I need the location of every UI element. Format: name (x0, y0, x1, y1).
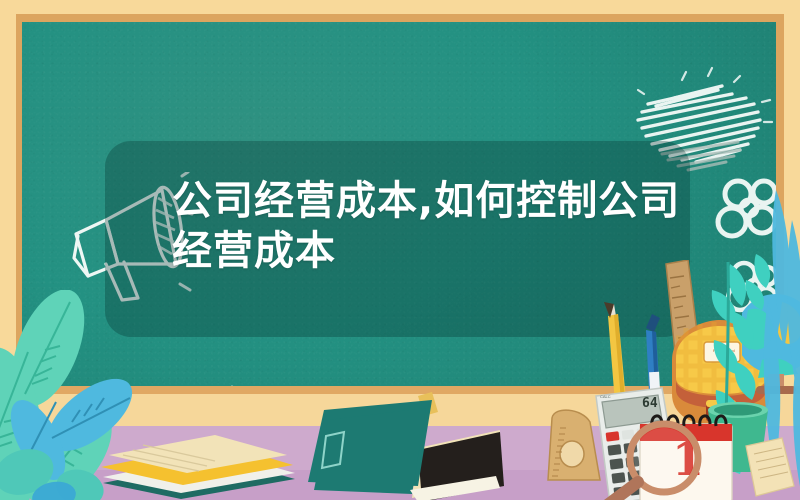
banner-image: 公司经营成本,如何控制公司经营成本 (0, 0, 800, 500)
magnifying-glass (600, 420, 710, 500)
page-title: 公司经营成本,如何控制公司经营成本 (172, 176, 692, 276)
paper-notes-right (742, 430, 800, 500)
leaf-accent-right-top (742, 250, 792, 320)
book-open-center (300, 390, 530, 500)
book-stack-left (95, 415, 310, 500)
